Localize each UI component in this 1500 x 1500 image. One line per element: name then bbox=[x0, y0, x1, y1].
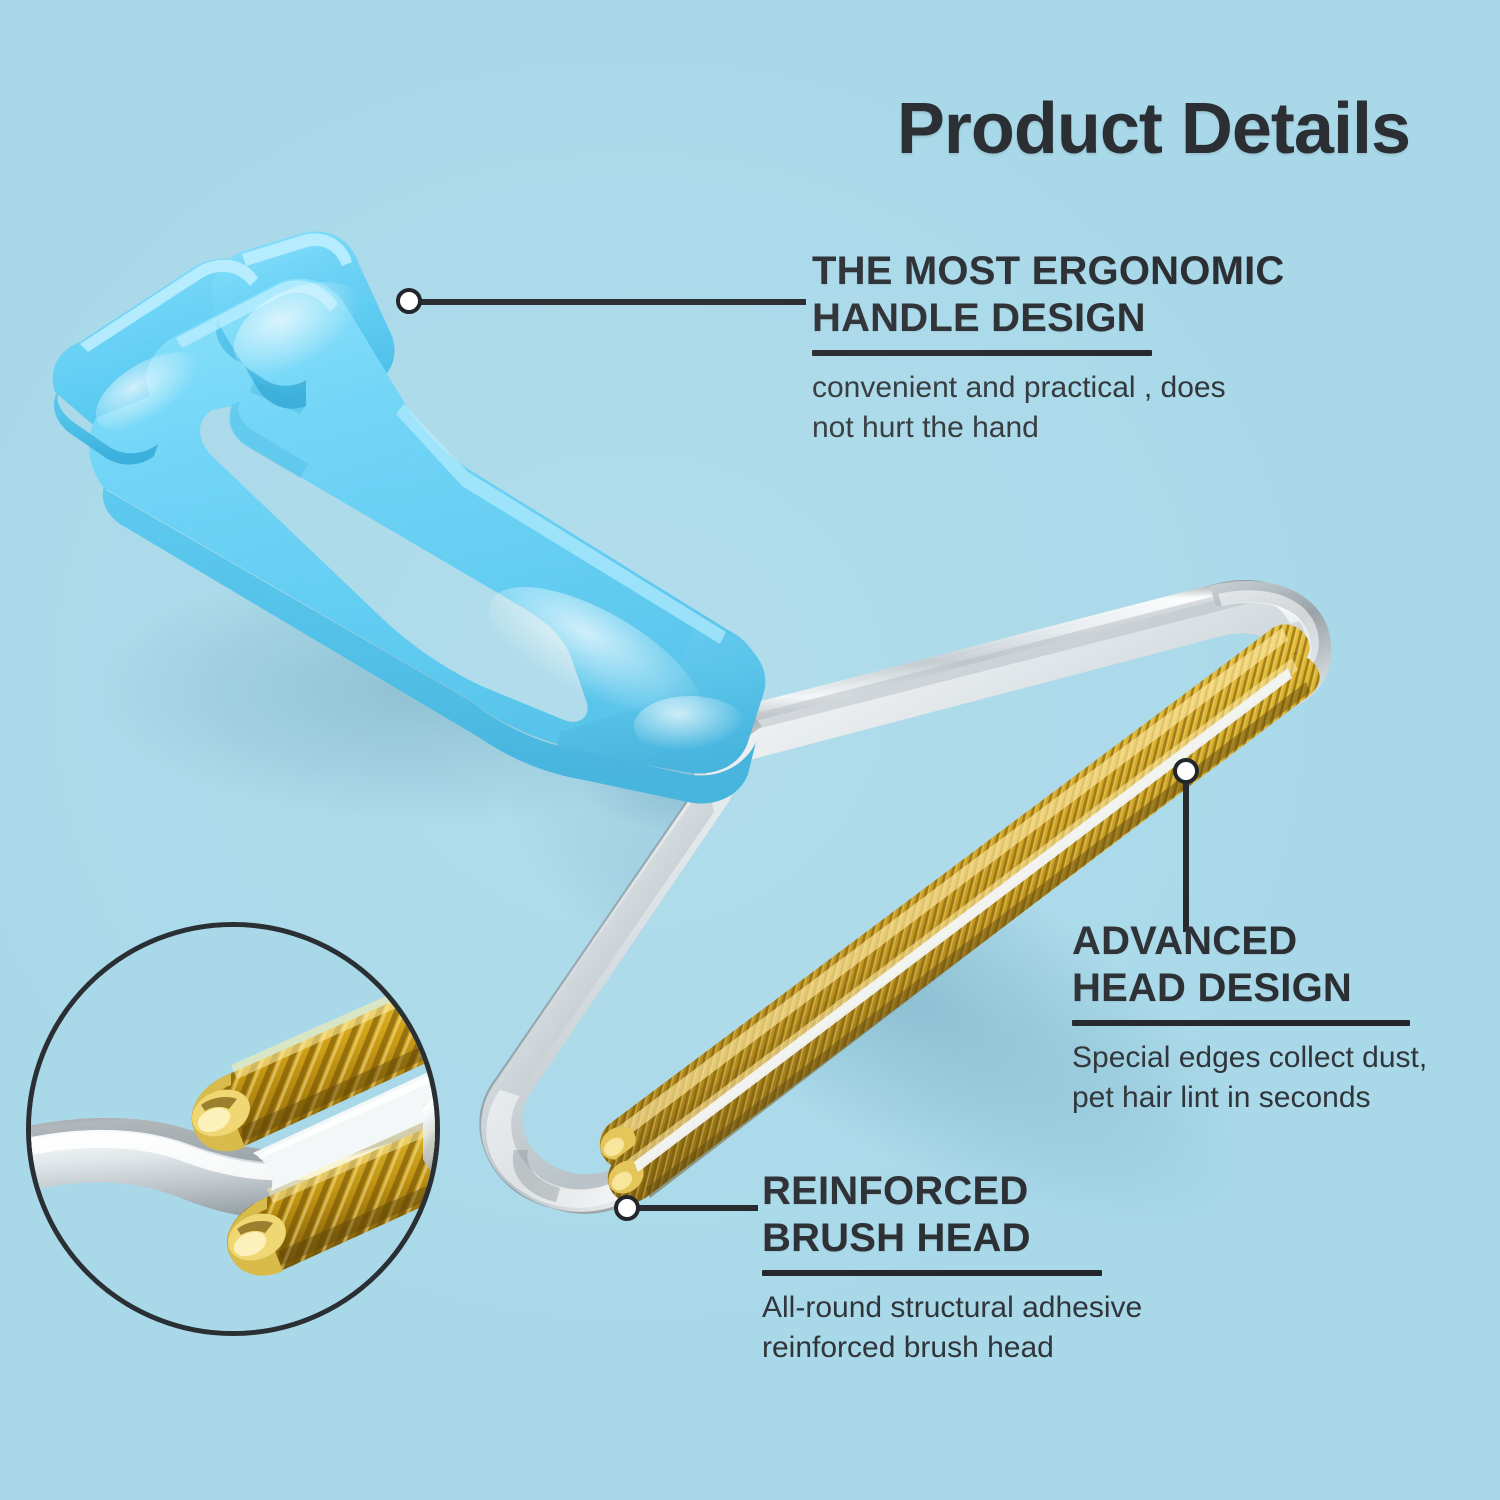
callout-heading-line1: THE MOST ERGONOMIC bbox=[812, 248, 1412, 295]
callout-body-line1: Special edges collect dust, bbox=[1072, 1038, 1492, 1078]
callout-heading-advanced-head: ADVANCED HEAD DESIGN bbox=[1072, 918, 1492, 1012]
leader-dot-advanced-head[interactable] bbox=[1173, 758, 1199, 784]
leader-dot-reinforced-brush[interactable] bbox=[614, 1195, 640, 1221]
callout-body-advanced-head: Special edges collect dust, pet hair lin… bbox=[1072, 1038, 1492, 1117]
infographic-canvas: Product Details THE MOST ERGONOMIC HANDL… bbox=[0, 0, 1500, 1500]
callout-heading-ergonomic-handle: THE MOST ERGONOMIC HANDLE DESIGN bbox=[812, 248, 1412, 342]
callout-heading-reinforced-brush: REINFORCED BRUSH HEAD bbox=[762, 1168, 1242, 1262]
callout-heading-line1: ADVANCED bbox=[1072, 918, 1492, 965]
callout-rule-advanced-head bbox=[1072, 1020, 1410, 1026]
callout-advanced-head: ADVANCED HEAD DESIGN Special edges colle… bbox=[1072, 918, 1492, 1118]
callout-body-line2: not hurt the hand bbox=[812, 408, 1412, 448]
callout-body-ergonomic-handle: convenient and practical , does not hurt… bbox=[812, 368, 1412, 447]
callout-heading-line2: HANDLE DESIGN bbox=[812, 295, 1412, 342]
callout-body-line1: convenient and practical , does bbox=[812, 368, 1412, 408]
leader-line-reinforced-brush bbox=[636, 1205, 758, 1211]
callout-heading-line2: BRUSH HEAD bbox=[762, 1215, 1242, 1262]
callout-body-line2: reinforced brush head bbox=[762, 1328, 1242, 1368]
callout-body-reinforced-brush: All-round structural adhesive reinforced… bbox=[762, 1288, 1242, 1367]
page-title: Product Details bbox=[770, 92, 1410, 168]
callout-reinforced-brush: REINFORCED BRUSH HEAD All-round structur… bbox=[762, 1168, 1242, 1368]
callout-heading-line2: HEAD DESIGN bbox=[1072, 965, 1492, 1012]
callout-ergonomic-handle: THE MOST ERGONOMIC HANDLE DESIGN conveni… bbox=[812, 248, 1412, 448]
callout-heading-line1: REINFORCED bbox=[762, 1168, 1242, 1215]
leader-dot-ergonomic-handle[interactable] bbox=[396, 288, 422, 314]
inset-detail-circle bbox=[26, 922, 440, 1336]
leader-line-advanced-head bbox=[1183, 780, 1189, 932]
callout-body-line1: All-round structural adhesive bbox=[762, 1288, 1242, 1328]
callout-rule-reinforced-brush bbox=[762, 1270, 1102, 1276]
leader-line-ergonomic-handle bbox=[416, 299, 806, 305]
callout-rule-ergonomic-handle bbox=[812, 350, 1152, 356]
callout-body-line2: pet hair lint in seconds bbox=[1072, 1078, 1492, 1118]
